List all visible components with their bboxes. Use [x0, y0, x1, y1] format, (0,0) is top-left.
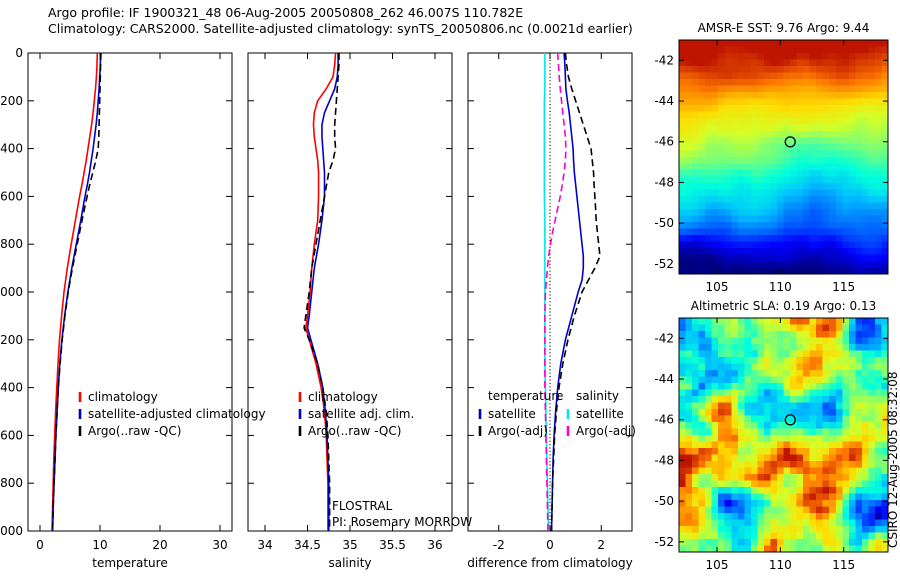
map-cell: [803, 513, 810, 520]
map-cell: [797, 403, 804, 410]
map-cell: [790, 235, 797, 242]
map-cell: [875, 151, 882, 158]
map-cell: [875, 157, 882, 164]
map-cell: [712, 177, 719, 184]
map-cell: [803, 370, 810, 377]
map-cell: [784, 435, 791, 442]
map-cell: [731, 325, 738, 332]
map-cell: [770, 112, 777, 119]
map-cell: [679, 416, 686, 423]
map-cell: [725, 131, 732, 138]
map-sla-map: Altimetric SLA: 0.19 Argo: 0.13105110115…: [654, 299, 888, 572]
map-cell: [849, 131, 856, 138]
map-cell: [699, 261, 706, 268]
map-cell: [764, 468, 771, 475]
map-cell: [823, 40, 830, 47]
map-cell: [770, 138, 777, 145]
map-cell: [823, 442, 830, 449]
map-cell: [770, 151, 777, 158]
map-cell: [797, 520, 804, 527]
map-cell: [810, 370, 817, 377]
map-cell: [686, 344, 693, 351]
map-cell: [816, 468, 823, 475]
map-cell: [868, 396, 875, 403]
map-cell: [692, 144, 699, 151]
map-cell: [692, 73, 699, 80]
map-cell: [836, 209, 843, 216]
map-cell: [686, 209, 693, 216]
map-cell: [751, 344, 758, 351]
map-cell: [842, 331, 849, 338]
map-cell: [823, 357, 830, 364]
map-cell: [725, 86, 732, 93]
map-cell: [738, 507, 745, 514]
map-cell: [692, 112, 699, 119]
map-cell: [803, 196, 810, 203]
map-cell: [797, 474, 804, 481]
map-cell: [731, 416, 738, 423]
map-cell: [725, 99, 732, 106]
map-cell: [686, 507, 693, 514]
map-cell: [712, 261, 719, 268]
map-cell: [751, 79, 758, 86]
map-cell: [764, 255, 771, 262]
map-cell: [764, 325, 771, 332]
map-cell: [764, 474, 771, 481]
map-cell: [790, 255, 797, 262]
map-cell: [705, 209, 712, 216]
map-cell: [868, 229, 875, 236]
map-cell: [862, 364, 869, 371]
map-cell: [712, 526, 719, 533]
legend-label: satellite adj. clim.: [308, 407, 414, 421]
map-cell: [731, 157, 738, 164]
map-cell: [862, 177, 869, 184]
map-cell: [731, 242, 738, 249]
map-cell: [810, 383, 817, 390]
map-cell: [757, 170, 764, 177]
map-cell: [686, 170, 693, 177]
map-cell: [718, 383, 725, 390]
map-cell: [797, 144, 804, 151]
map-cell: [803, 66, 810, 73]
map-cell: [823, 318, 830, 325]
map-cell: [777, 494, 784, 501]
map-cell: [731, 248, 738, 255]
map-cell: [731, 331, 738, 338]
map-cell: [744, 448, 751, 455]
map-cell: [797, 455, 804, 462]
map-cell: [718, 118, 725, 125]
map-cell: [790, 344, 797, 351]
map-cell: [757, 242, 764, 249]
map-cell: [875, 209, 882, 216]
map-cell: [699, 216, 706, 223]
map-cell: [699, 183, 706, 190]
map-cell: [751, 125, 758, 132]
map-cell: [797, 442, 804, 449]
map-cell: [862, 196, 869, 203]
map-cell: [816, 47, 823, 54]
series-satellite-adjusted-climatology: [53, 53, 101, 531]
map-cell: [764, 203, 771, 210]
series-temperature-argo-adj-: [552, 53, 600, 531]
map-cell: [757, 507, 764, 514]
map-cell: [692, 539, 699, 546]
map-cell: [842, 422, 849, 429]
map-cell: [862, 151, 869, 158]
map-cell: [868, 357, 875, 364]
map-cell: [744, 229, 751, 236]
map-cell: [757, 164, 764, 171]
map-cell: [797, 203, 804, 210]
map-cell: [738, 66, 745, 73]
map-cell: [777, 481, 784, 488]
map-cell: [855, 370, 862, 377]
map-cell: [855, 533, 862, 540]
map-cell: [757, 409, 764, 416]
map-cell: [855, 131, 862, 138]
map-cell: [810, 164, 817, 171]
y-tick-label: 800: [0, 237, 23, 251]
map-cell: [849, 325, 856, 332]
map-cell: [842, 60, 849, 67]
map-cell: [764, 481, 771, 488]
map-cell: [816, 66, 823, 73]
x-tick-label: 35: [342, 538, 357, 552]
map-cell: [686, 500, 693, 507]
map-cell: [770, 383, 777, 390]
map-cell: [770, 53, 777, 60]
map-cell: [842, 112, 849, 119]
map-title: AMSR-E SST: 9.76 Argo: 9.44: [698, 21, 870, 35]
map-cell: [777, 461, 784, 468]
map-cell: [842, 494, 849, 501]
map-cell: [842, 520, 849, 527]
map-cell: [770, 66, 777, 73]
map-cell: [875, 203, 882, 210]
map-cell: [744, 429, 751, 436]
map-cell: [823, 331, 830, 338]
map-cell: [875, 396, 882, 403]
map-cell: [836, 338, 843, 345]
map-cell: [738, 513, 745, 520]
map-cell: [849, 500, 856, 507]
map-cell: [757, 125, 764, 132]
map-cell: [686, 47, 693, 54]
map-cell: [849, 422, 856, 429]
map-cell: [692, 66, 699, 73]
map-cell: [705, 344, 712, 351]
map-cell: [875, 112, 882, 119]
map-cell: [731, 92, 738, 99]
map-cell: [836, 468, 843, 475]
map-cell: [686, 255, 693, 262]
map-cell: [751, 203, 758, 210]
map-cell: [784, 370, 791, 377]
map-cell: [842, 248, 849, 255]
map-cell: [849, 79, 856, 86]
map-cell: [699, 164, 706, 171]
map-cell: [855, 448, 862, 455]
map-cell: [790, 513, 797, 520]
map-cell: [725, 409, 732, 416]
map-cell: [823, 222, 830, 229]
map-cell: [731, 474, 738, 481]
map-cell: [803, 481, 810, 488]
map-cell: [751, 435, 758, 442]
map-cell: [829, 526, 836, 533]
map-cell: [718, 190, 725, 197]
map-cell: [784, 507, 791, 514]
map-cell: [770, 364, 777, 371]
map-cell: [836, 507, 843, 514]
map-cell: [764, 92, 771, 99]
map-cell: [744, 170, 751, 177]
map-cell: [718, 203, 725, 210]
map-cell: [810, 131, 817, 138]
map-cell: [770, 255, 777, 262]
map-cell: [712, 66, 719, 73]
map-cell: [868, 383, 875, 390]
map-cell: [855, 125, 862, 132]
map-cell: [836, 325, 843, 332]
map-cell: [790, 157, 797, 164]
map-cell: [875, 513, 882, 520]
curves-group: [304, 53, 339, 531]
map-cell: [692, 507, 699, 514]
map-cell: [875, 442, 882, 449]
map-cell: [836, 513, 843, 520]
map-cell: [725, 40, 732, 47]
map-cell: [725, 442, 732, 449]
map-cell: [849, 513, 856, 520]
map-cell: [731, 500, 738, 507]
map-cell: [686, 53, 693, 60]
map-cell: [823, 364, 830, 371]
map-cell: [803, 53, 810, 60]
map-cell: [679, 183, 686, 190]
map-cell: [692, 261, 699, 268]
map-cell: [705, 461, 712, 468]
map-cell: [705, 520, 712, 527]
map-cell: [849, 92, 856, 99]
map-cell: [751, 448, 758, 455]
legend-label: Argo(..raw -QC): [308, 424, 401, 438]
map-cell: [797, 435, 804, 442]
map-cell: [705, 242, 712, 249]
map-cell: [823, 448, 830, 455]
map-cell: [770, 351, 777, 358]
map-cell: [764, 99, 771, 106]
map-cell: [744, 377, 751, 384]
map-cell: [744, 190, 751, 197]
map-cell: [829, 73, 836, 80]
map-cell: [816, 125, 823, 132]
map-cell: [751, 118, 758, 125]
legend-label: climatology: [308, 390, 378, 404]
map-cell: [751, 338, 758, 345]
map-cell: [816, 331, 823, 338]
map-cell: [692, 344, 699, 351]
map-cell: [842, 481, 849, 488]
map-cell: [738, 242, 745, 249]
map-cell: [699, 112, 706, 119]
map-cell: [718, 396, 725, 403]
map-cell: [770, 125, 777, 132]
map-cell: [777, 338, 784, 345]
map-cell: [842, 86, 849, 93]
map-cell: [875, 539, 882, 546]
map-cell: [823, 403, 830, 410]
map-sst-map: AMSR-E SST: 9.76 Argo: 9.44105110115-42-…: [654, 21, 888, 294]
map-cell: [705, 196, 712, 203]
map-cell: [744, 47, 751, 54]
map-cell: [692, 40, 699, 47]
map-cell: [816, 255, 823, 262]
map-cell: [705, 229, 712, 236]
map-cell: [757, 105, 764, 112]
map-cell: [855, 112, 862, 119]
map-cell: [692, 248, 699, 255]
map-cell: [797, 261, 804, 268]
map-cell: [770, 487, 777, 494]
map-cell: [829, 481, 836, 488]
map-cell: [679, 105, 686, 112]
map-cell: [770, 429, 777, 436]
map-cell: [849, 448, 856, 455]
map-cell: [790, 73, 797, 80]
map-cell: [757, 416, 764, 423]
map-cell: [816, 53, 823, 60]
map-cell: [718, 429, 725, 436]
map-cell: [849, 481, 856, 488]
map-cell: [803, 390, 810, 397]
map-cell: [829, 507, 836, 514]
map-cell: [862, 481, 869, 488]
map-cell: [777, 60, 784, 67]
map-cell: [738, 409, 745, 416]
map-cell: [829, 344, 836, 351]
map-cell: [751, 242, 758, 249]
map-cell: [725, 216, 732, 223]
map-cell: [712, 331, 719, 338]
map-cell: [712, 157, 719, 164]
map-cell: [868, 318, 875, 325]
map-cell: [777, 66, 784, 73]
map-cell: [679, 403, 686, 410]
map-cell: [770, 318, 777, 325]
map-cell: [764, 73, 771, 80]
map-cell: [784, 177, 791, 184]
map-cell: [738, 474, 745, 481]
map-cell: [790, 248, 797, 255]
map-cell: [712, 539, 719, 546]
map-cell: [757, 209, 764, 216]
map-cell: [862, 520, 869, 527]
map-cell: [803, 520, 810, 527]
map-cell: [849, 190, 856, 197]
map-cell: [829, 242, 836, 249]
map-cell: [712, 442, 719, 449]
map-cell: [738, 118, 745, 125]
map-cell: [705, 416, 712, 423]
map-cell: [790, 47, 797, 54]
map-cell: [849, 105, 856, 112]
map-cell: [738, 390, 745, 397]
map-cell: [712, 533, 719, 540]
map-cell: [810, 170, 817, 177]
map-cell: [816, 435, 823, 442]
map-cell: [849, 403, 856, 410]
map-cell: [770, 422, 777, 429]
title-line-2: Climatology: CARS2000. Satellite-adjuste…: [48, 21, 633, 37]
map-cell: [829, 325, 836, 332]
map-cell: [823, 338, 830, 345]
map-cell: [679, 40, 686, 47]
map-cell: [764, 131, 771, 138]
map-y-tick-label: -46: [654, 135, 674, 149]
map-cell: [712, 455, 719, 462]
map-cell: [777, 409, 784, 416]
map-cell: [816, 131, 823, 138]
map-cell: [725, 377, 732, 384]
map-cell: [842, 487, 849, 494]
map-cell: [738, 164, 745, 171]
map-cell: [784, 157, 791, 164]
map-cell: [836, 474, 843, 481]
map-cell: [855, 461, 862, 468]
map-cell: [764, 66, 771, 73]
y-tick-label: 2000: [0, 524, 23, 538]
map-cell: [731, 216, 738, 223]
map-cell: [699, 416, 706, 423]
map-cell: [777, 125, 784, 132]
map-cell: [738, 442, 745, 449]
map-cell: [855, 539, 862, 546]
map-cell: [731, 144, 738, 151]
map-cell: [790, 533, 797, 540]
map-cell: [679, 539, 686, 546]
map-cell: [829, 138, 836, 145]
map-cell: [738, 183, 745, 190]
map-cell: [836, 409, 843, 416]
map-cell: [725, 177, 732, 184]
map-cell: [790, 507, 797, 514]
map-cell: [692, 513, 699, 520]
map-cell: [692, 474, 699, 481]
map-cell: [829, 164, 836, 171]
map-cell: [803, 429, 810, 436]
map-cell: [757, 138, 764, 145]
map-cell: [699, 66, 706, 73]
map-cell: [829, 448, 836, 455]
map-cell: [738, 157, 745, 164]
map-cell: [823, 47, 830, 54]
map-cell: [862, 157, 869, 164]
map-cell: [842, 370, 849, 377]
map-cell: [784, 66, 791, 73]
map-cell: [810, 526, 817, 533]
map-cell: [699, 144, 706, 151]
map-cell: [823, 235, 830, 242]
map-cell: [699, 338, 706, 345]
map-cell: [699, 422, 706, 429]
map-cell: [731, 533, 738, 540]
map-cell: [810, 73, 817, 80]
map-cell: [757, 435, 764, 442]
map-cell: [679, 344, 686, 351]
